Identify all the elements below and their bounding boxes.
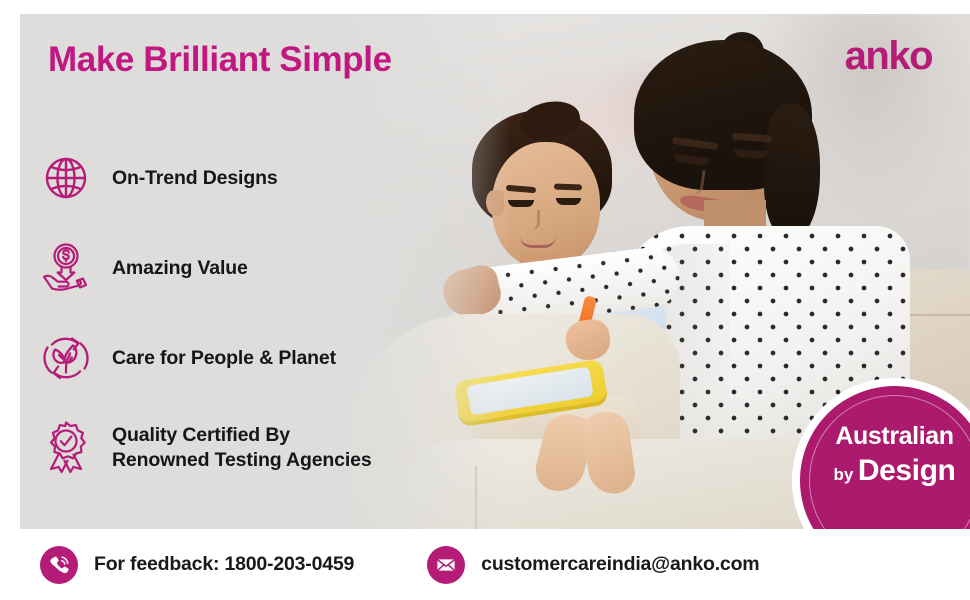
email-text: customercareindia@anko.com <box>481 553 759 576</box>
award-ribbon-icon <box>30 420 102 476</box>
feature-label: Amazing Value <box>102 256 248 281</box>
photo-boy-brow-right <box>554 184 582 191</box>
australian-by-design-badge: Australian by Design <box>792 378 970 528</box>
phone-text: For feedback: 1800-203-0459 <box>94 553 354 576</box>
photo-boy-nose <box>526 210 540 230</box>
envelope-icon <box>427 546 465 584</box>
feature-item-amazing-value: Amazing Value <box>30 223 450 313</box>
badge-text: Australian by Design <box>792 424 970 486</box>
badge-word-by: by <box>834 465 854 484</box>
badge-line-australian: Australian <box>792 424 970 449</box>
money-in-hand-icon <box>30 242 102 294</box>
globe-icon <box>30 153 102 203</box>
photo-boy-eye-right <box>556 198 581 205</box>
phone-icon <box>40 546 78 584</box>
badge-word-design: Design <box>858 454 956 487</box>
contact-footer: For feedback: 1800-203-0459 customercare… <box>0 529 970 600</box>
feature-label: On-Trend Designs <box>102 166 278 191</box>
feature-item-on-trend-designs: On-Trend Designs <box>30 133 450 223</box>
contact-phone[interactable]: For feedback: 1800-203-0459 <box>40 546 354 584</box>
recycle-leaf-icon <box>30 332 102 384</box>
feature-label: Care for People & Planet <box>102 346 336 371</box>
feature-item-care-for-people-planet: Care for People & Planet <box>30 313 450 403</box>
feature-item-quality-certified: Quality Certified By Renowned Testing Ag… <box>30 403 450 493</box>
feature-label: Quality Certified By Renowned Testing Ag… <box>102 423 372 473</box>
promo-banner: Make Brilliant Simple anko On-Trend Desi… <box>0 0 970 600</box>
photo-woman-hair-side <box>764 104 820 239</box>
photo-boy-eye-left <box>508 200 534 207</box>
feature-list: On-Trend Designs Amazing Value <box>30 133 450 493</box>
badge-line-by-design: by Design <box>792 456 970 486</box>
anko-logo: anko <box>845 36 932 76</box>
page-title: Make Brilliant Simple <box>48 40 392 80</box>
contact-email[interactable]: customercareindia@anko.com <box>427 546 759 584</box>
